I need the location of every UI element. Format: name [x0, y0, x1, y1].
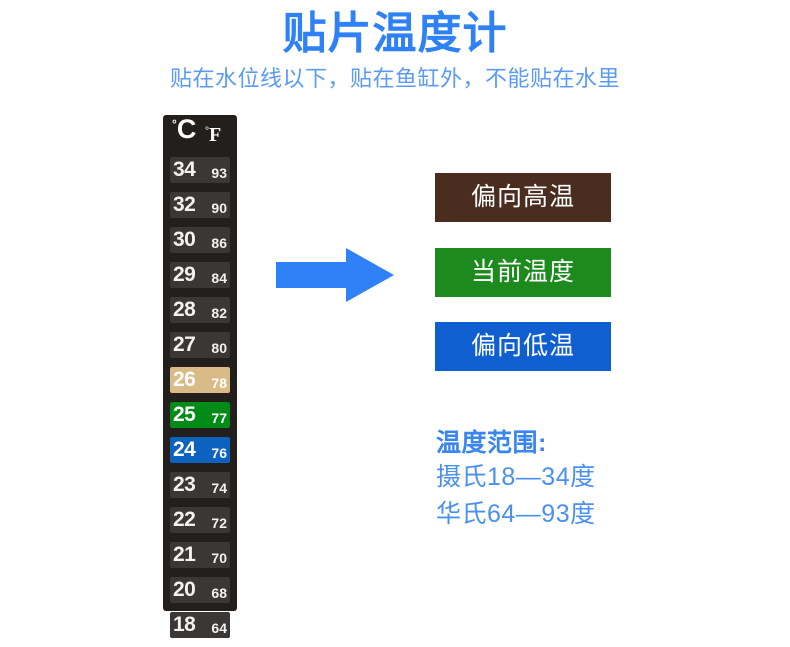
- thermometer-strip: °C °F 3493 3290 3086 2984 2882 2780 2678…: [163, 115, 237, 611]
- fahrenheit-value: 72: [211, 516, 227, 531]
- celsius-value: 18: [173, 614, 195, 636]
- celsius-value: 29: [173, 264, 195, 286]
- fahrenheit-value: 64: [211, 621, 227, 636]
- fahrenheit-value: 74: [211, 481, 227, 496]
- thermometer-row: 2882: [170, 297, 230, 323]
- thermometer-row: 2170: [170, 542, 230, 568]
- fahrenheit-unit-letter: F: [209, 124, 221, 146]
- celsius-value: 30: [173, 229, 195, 251]
- thermometer-row: 3493: [170, 157, 230, 183]
- celsius-value: 25: [173, 404, 195, 426]
- celsius-value: 34: [173, 159, 195, 181]
- thermometer-row-cool: 2476: [170, 437, 230, 463]
- fahrenheit-value: 70: [211, 551, 227, 566]
- fahrenheit-value: 78: [211, 376, 227, 391]
- thermometer-row-current: 2577: [170, 402, 230, 428]
- fahrenheit-value: 76: [211, 446, 227, 461]
- celsius-value: 20: [173, 579, 195, 601]
- fahrenheit-value: 84: [211, 271, 227, 286]
- thermometer-row: 1864: [170, 612, 230, 638]
- celsius-value: 21: [173, 544, 195, 566]
- legend-spacer: [435, 222, 615, 248]
- thermometer-row-warm: 2678: [170, 367, 230, 393]
- celsius-unit-letter: C: [177, 114, 197, 144]
- thermometer-row: 2272: [170, 507, 230, 533]
- temperature-range-celsius: 摄氏18—34度: [436, 459, 596, 496]
- celsius-value: 27: [173, 334, 195, 356]
- fahrenheit-unit-label: °F: [205, 125, 221, 145]
- legend-label-high-temp: 偏向高温: [471, 183, 575, 211]
- temperature-range-title: 温度范围:: [436, 428, 596, 459]
- thermometer-rows: 3493 3290 3086 2984 2882 2780 2678 2577 …: [170, 157, 230, 647]
- thermometer-row: 2984: [170, 262, 230, 288]
- celsius-unit-label: °C: [172, 116, 196, 143]
- page-subtitle: 贴在水位线以下，贴在鱼缸外，不能贴在水里: [0, 60, 790, 92]
- celsius-value: 32: [173, 194, 195, 216]
- legend-label-current-temp: 当前温度: [471, 258, 575, 286]
- celsius-value: 26: [173, 369, 195, 391]
- celsius-value: 23: [173, 474, 195, 496]
- fahrenheit-value: 90: [211, 201, 227, 216]
- thermometer-row: 2374: [170, 472, 230, 498]
- celsius-value: 24: [173, 439, 195, 461]
- fahrenheit-value: 68: [211, 586, 227, 601]
- legend-spacer: [435, 297, 615, 322]
- legend-label-low-temp: 偏向低温: [471, 332, 575, 360]
- legend-item-high-temp: 偏向高温: [435, 173, 611, 222]
- temperature-range-info: 温度范围: 摄氏18—34度 华氏64—93度: [436, 428, 596, 533]
- fahrenheit-value: 77: [211, 411, 227, 426]
- fahrenheit-value: 80: [211, 341, 227, 356]
- fahrenheit-value: 93: [211, 166, 227, 181]
- thermometer-row: 2068: [170, 577, 230, 603]
- thermometer-row: 2780: [170, 332, 230, 358]
- header: 贴片温度计 贴在水位线以下，贴在鱼缸外，不能贴在水里: [0, 0, 790, 92]
- legend: 偏向高温 当前温度 偏向低温: [435, 173, 615, 371]
- thermometer-scale-header: °C °F: [163, 115, 237, 155]
- arrow-right-icon: [276, 246, 396, 304]
- legend-item-current-temp: 当前温度: [435, 248, 611, 297]
- celsius-value: 22: [173, 509, 195, 531]
- thermometer-row: 3290: [170, 192, 230, 218]
- thermometer-row: 3086: [170, 227, 230, 253]
- fahrenheit-value: 86: [211, 236, 227, 251]
- page-title: 贴片温度计: [0, 0, 790, 60]
- celsius-value: 28: [173, 299, 195, 321]
- legend-item-low-temp: 偏向低温: [435, 322, 611, 371]
- fahrenheit-value: 82: [211, 306, 227, 321]
- temperature-range-fahrenheit: 华氏64—93度: [436, 496, 596, 533]
